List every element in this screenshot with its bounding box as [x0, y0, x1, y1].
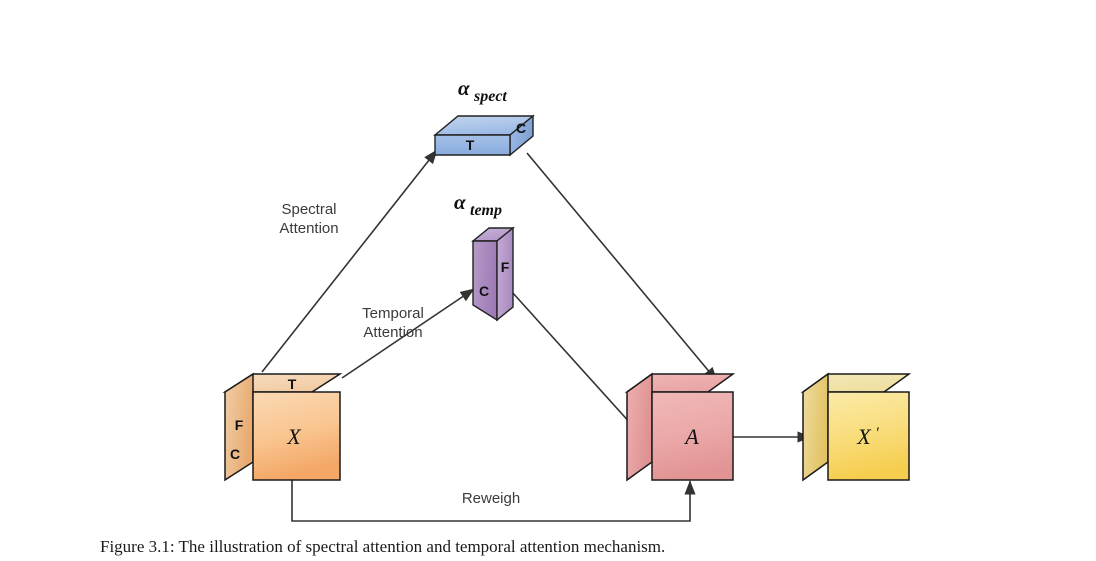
- input-cube-X: X T F C: [225, 374, 340, 480]
- input-cube-side-upper-label: F: [235, 417, 244, 433]
- alpha-temp-block: F C: [473, 228, 513, 320]
- output-cube-left-face: [803, 374, 828, 480]
- alpha-temp-front-label: F: [501, 259, 510, 275]
- spectral-attention-label-line2: Attention: [279, 220, 338, 237]
- alpha-temp-left-face: [473, 241, 497, 320]
- output-cube-prime-label: ′: [875, 425, 879, 442]
- temporal-attention-label-line2: Attention: [363, 324, 422, 341]
- alpha-temp-symbol: α: [454, 190, 466, 214]
- spectral-attention-label: Spectral Attention: [279, 201, 338, 237]
- figure-caption: Figure 3.1: The illustration of spectral…: [100, 537, 1000, 557]
- reweigh-label: Reweigh: [462, 490, 520, 507]
- attention-cube-A: A: [627, 374, 733, 480]
- input-cube-top-label: T: [288, 376, 297, 392]
- output-cube-center-label: X: [856, 424, 872, 449]
- arrow-spectral-to-attention: [527, 153, 717, 381]
- alpha-spect-symbol: α: [458, 76, 470, 100]
- alpha-spect-side-label: C: [516, 120, 526, 136]
- attention-cube-center-label: A: [683, 424, 699, 449]
- figure-canvas: T C α spect F C α temp X T F C A: [0, 0, 1096, 561]
- temporal-attention-label-line1: Temporal: [362, 305, 424, 322]
- alpha-temp-side-label: C: [479, 283, 489, 299]
- alpha-spect-subscript: spect: [473, 88, 507, 105]
- spectral-attention-label-line1: Spectral: [281, 201, 336, 218]
- input-cube-center-label: X: [286, 424, 302, 449]
- alpha-spect-block: T C: [435, 116, 533, 155]
- architecture-diagram: T C α spect F C α temp X T F C A: [0, 0, 1096, 561]
- alpha-temp-title: α temp: [454, 190, 502, 219]
- alpha-spect-front-label: T: [466, 137, 475, 153]
- alpha-spect-title: α spect: [458, 76, 507, 105]
- alpha-temp-subscript: temp: [470, 202, 502, 219]
- attention-cube-left-face: [627, 374, 652, 480]
- temporal-attention-label: Temporal Attention: [362, 305, 424, 341]
- input-cube-side-lower-label: C: [230, 446, 240, 462]
- output-cube-X-prime: X ′: [803, 374, 909, 480]
